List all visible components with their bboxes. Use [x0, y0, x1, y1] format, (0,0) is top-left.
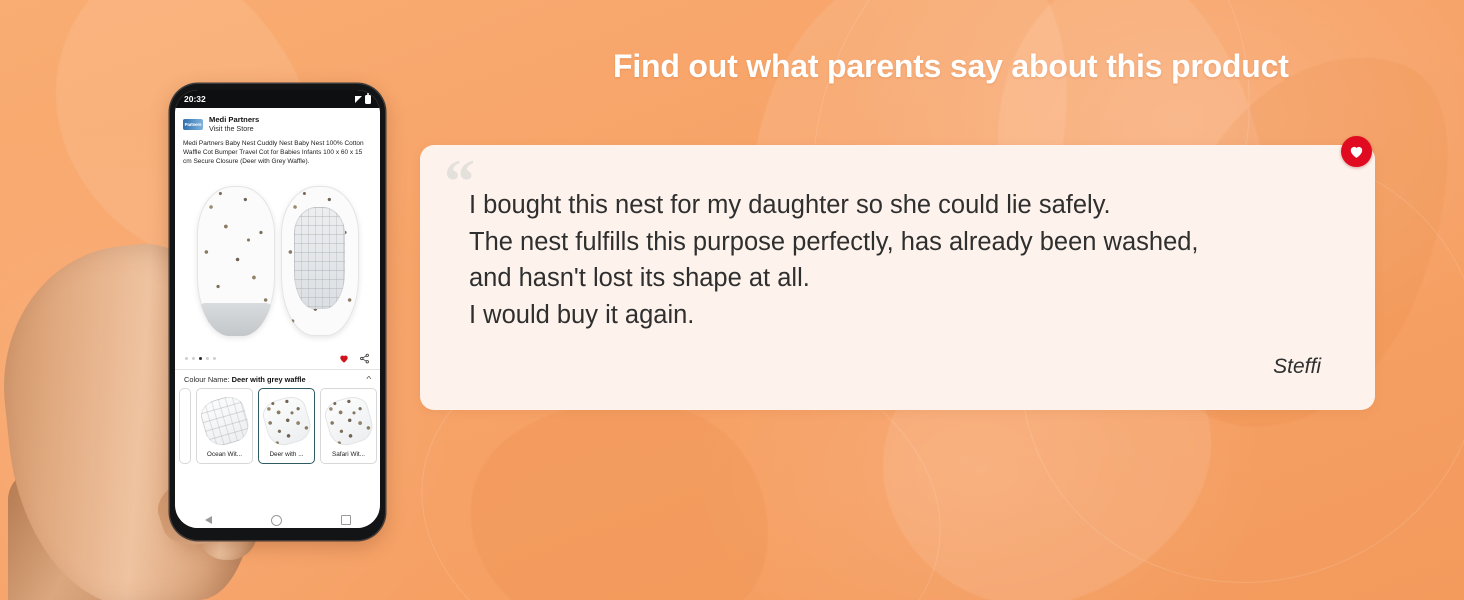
nav-recents-icon[interactable]	[341, 515, 351, 525]
testimonial-line: and hasn't lost its shape at all.	[469, 260, 1335, 297]
product-gallery[interactable]	[181, 172, 374, 350]
heart-icon[interactable]	[338, 353, 350, 364]
heart-icon	[1348, 143, 1365, 160]
swatch-thumbnail	[197, 392, 252, 448]
chevron-up-icon[interactable]: ^	[367, 375, 372, 384]
swatch-deer[interactable]: Deer with ...	[258, 388, 315, 464]
status-icon-group	[355, 95, 371, 104]
brand-row[interactable]: Partners Medi Partners Visit the Store	[175, 108, 380, 136]
nav-home-icon[interactable]	[271, 515, 282, 526]
colour-swatches[interactable]: Ocean Wit... Deer with ... Safari Wit...	[175, 387, 380, 464]
deer-print-pattern	[259, 392, 314, 448]
nav-back-icon[interactable]	[205, 516, 212, 524]
colour-row[interactable]: Colour Name: Deer with grey waffle ^	[175, 370, 380, 387]
testimonial-text: I bought this nest for my daughter so sh…	[469, 187, 1335, 334]
favorite-badge	[1341, 136, 1372, 167]
swatch-safari[interactable]: Safari Wit...	[320, 388, 377, 464]
waffle-texture	[294, 207, 345, 309]
carousel-dot[interactable]	[192, 357, 195, 360]
testimonial-card: “ I bought this nest for my daughter so …	[420, 145, 1375, 410]
carousel-dot-active[interactable]	[199, 357, 202, 360]
page-title: Find out what parents say about this pro…	[613, 48, 1373, 85]
swatch-partial[interactable]	[179, 388, 191, 464]
status-bar: 20:32	[175, 90, 380, 108]
wrist	[8, 468, 178, 600]
deer-print-pattern	[321, 392, 376, 448]
android-nav-bar	[175, 512, 380, 528]
brand-name: Medi Partners	[209, 115, 259, 124]
visit-store-link[interactable]: Visit the Store	[209, 124, 259, 133]
nest-base	[199, 303, 272, 336]
carousel-dots[interactable]	[185, 357, 338, 360]
gallery-controls	[175, 350, 380, 368]
colour-label-text: Colour Name:	[184, 375, 230, 384]
share-icon[interactable]	[359, 353, 370, 364]
swatch-label: Safari Wit...	[332, 451, 365, 458]
swatch-thumbnail	[259, 392, 314, 448]
signal-icon	[355, 96, 362, 103]
colour-label: Colour Name: Deer with grey waffle	[184, 375, 306, 384]
phone-screen: 20:32 Partners Medi Partners Visit the S…	[175, 90, 380, 528]
smartphone: 20:32 Partners Medi Partners Visit the S…	[170, 84, 385, 540]
nest-body	[281, 186, 359, 336]
swatch-label: Deer with ...	[269, 451, 303, 458]
brand-logo: Partners	[183, 119, 203, 130]
nest-body	[197, 186, 275, 336]
testimonial-author: Steffi	[1273, 355, 1321, 379]
status-time: 20:32	[184, 94, 206, 104]
swatch-ocean[interactable]: Ocean Wit...	[196, 388, 253, 464]
waffle-texture	[197, 392, 252, 448]
swatch-label: Ocean Wit...	[207, 451, 242, 458]
testimonial-line: I would buy it again.	[469, 297, 1335, 334]
battery-icon	[365, 95, 371, 104]
carousel-dot[interactable]	[206, 357, 209, 360]
product-image-open[interactable]	[281, 186, 359, 336]
colour-value: Deer with grey waffle	[232, 375, 306, 384]
gallery-actions	[338, 353, 370, 364]
product-title: Medi Partners Baby Nest Cuddly Nest Baby…	[175, 136, 380, 167]
product-image-front[interactable]	[197, 186, 275, 336]
testimonial-line: I bought this nest for my daughter so sh…	[469, 187, 1335, 224]
carousel-dot[interactable]	[213, 357, 216, 360]
testimonial-line: The nest fulfills this purpose perfectly…	[469, 224, 1335, 261]
promo-banner: Find out what parents say about this pro…	[0, 0, 1464, 600]
nest-mattress	[294, 207, 345, 309]
carousel-dot[interactable]	[185, 357, 188, 360]
swatch-thumbnail	[321, 392, 376, 448]
